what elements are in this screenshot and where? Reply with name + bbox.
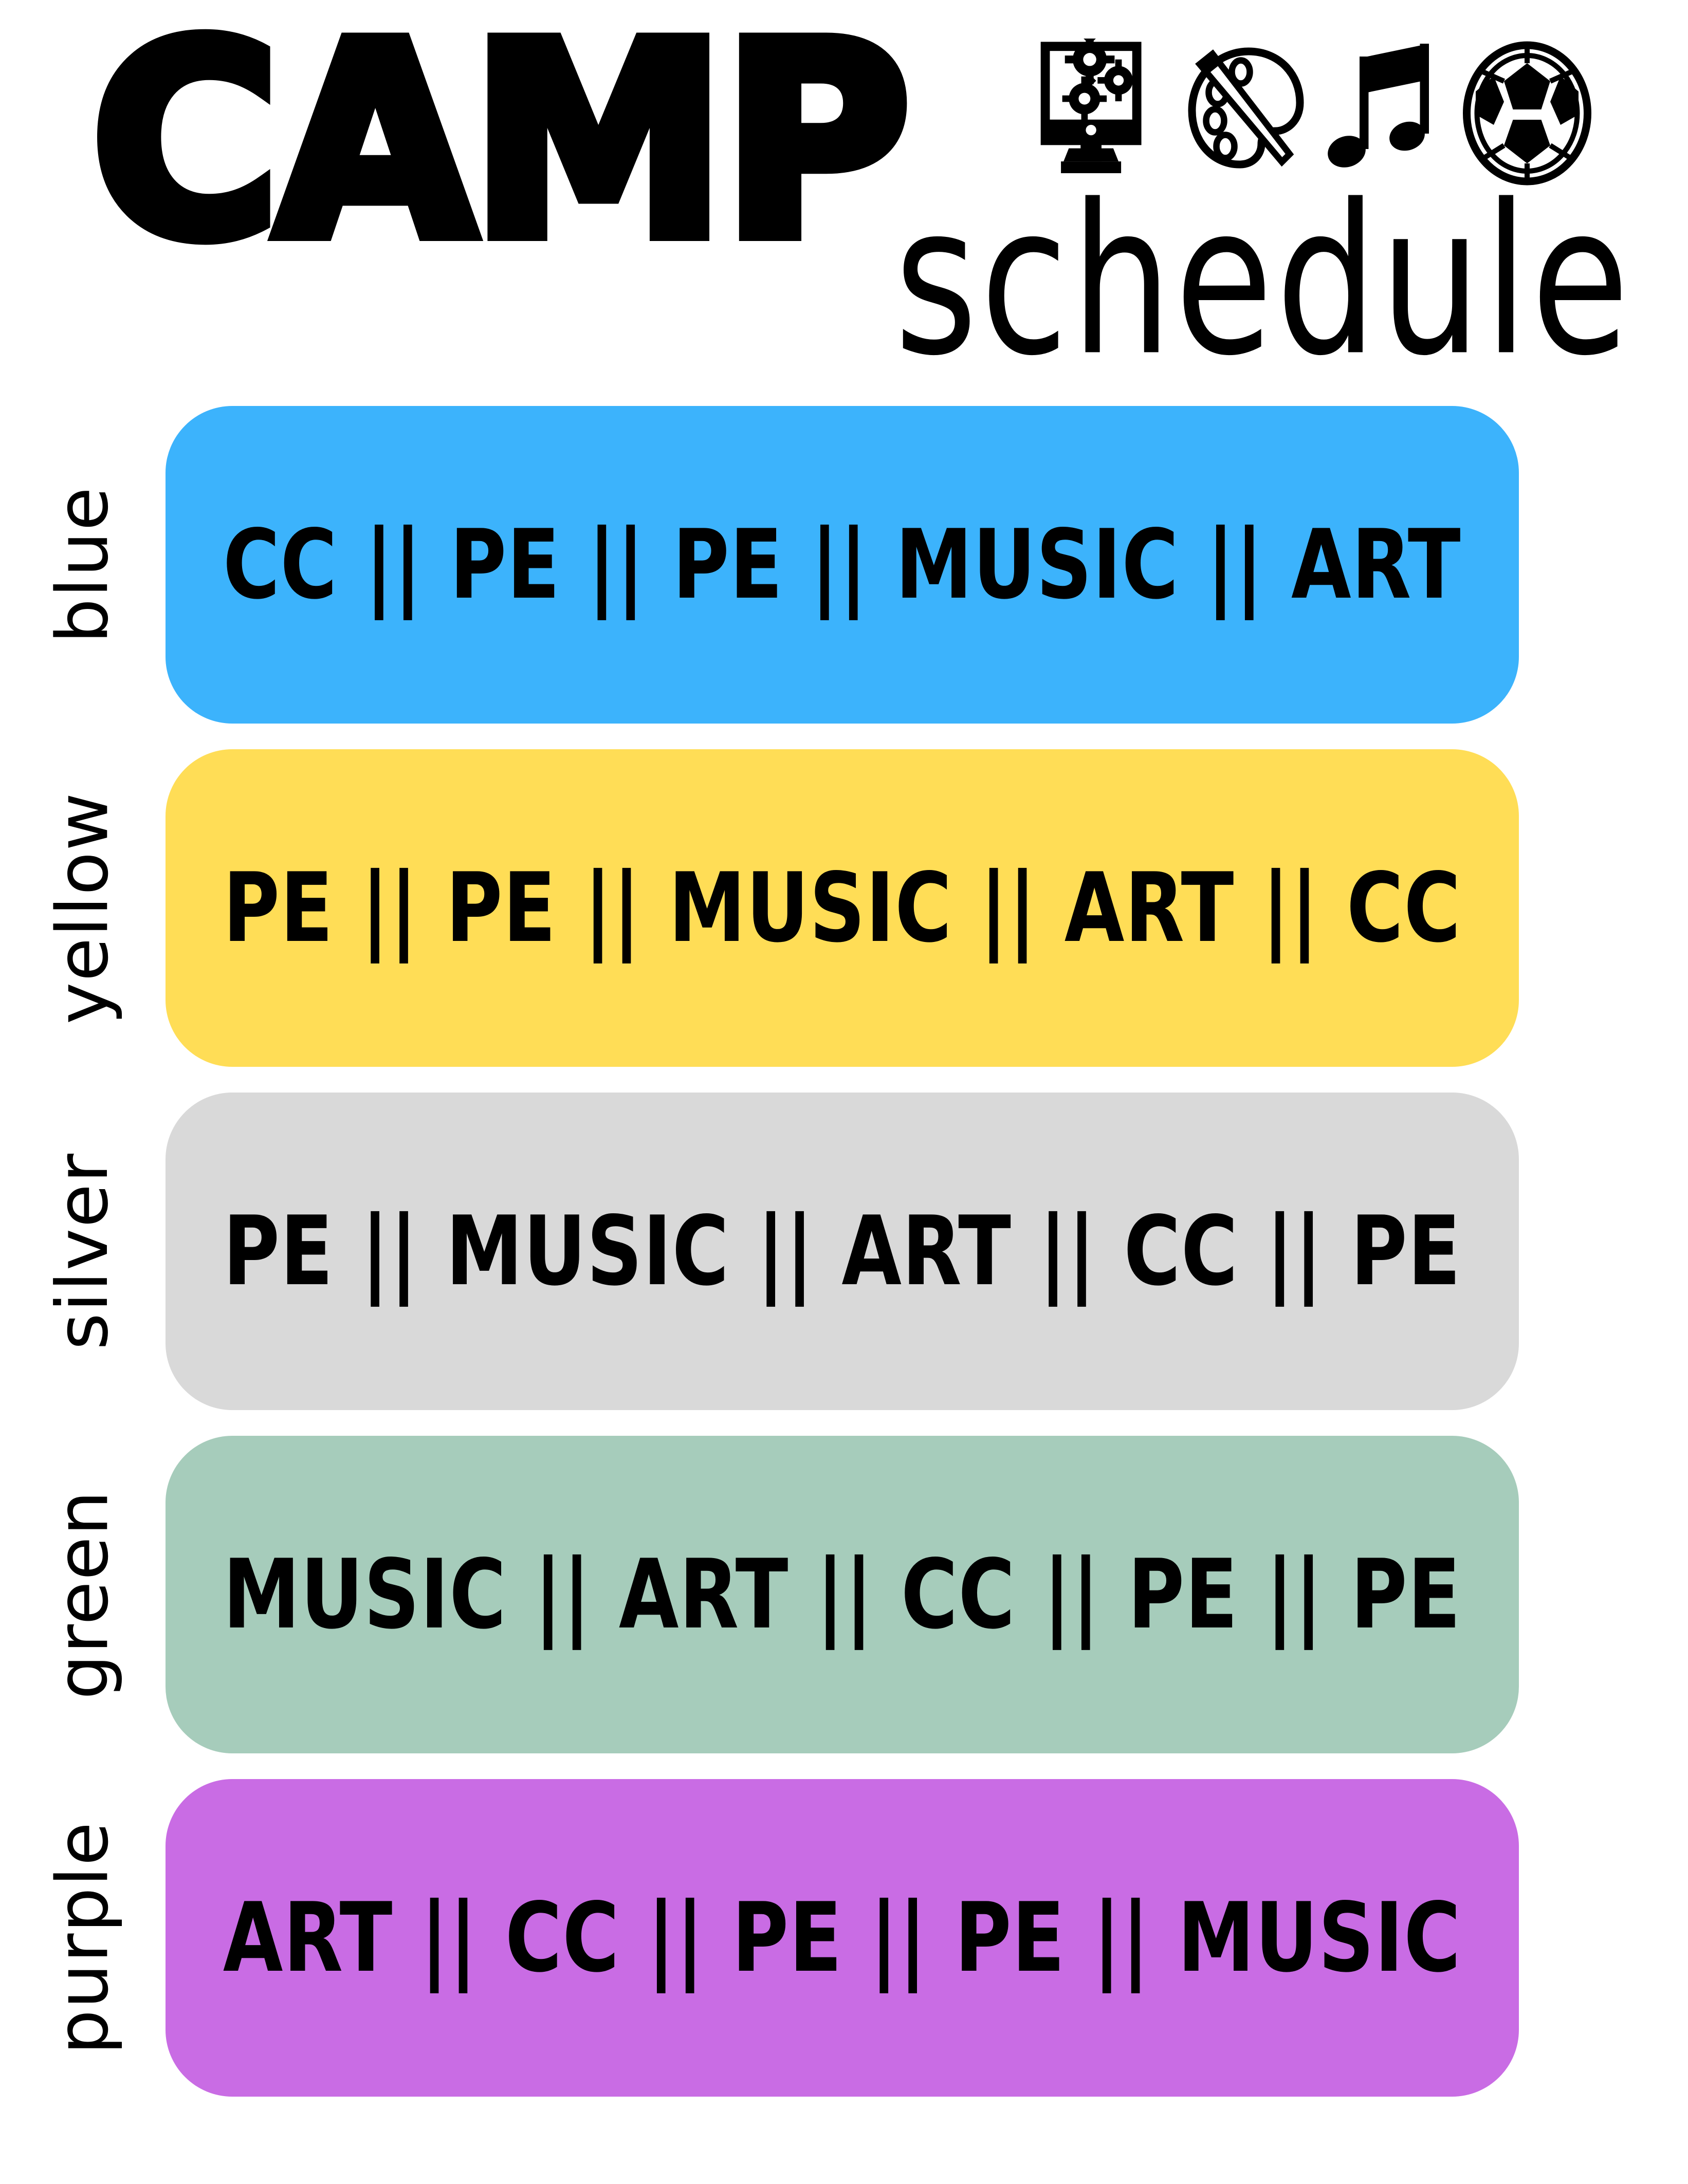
schedule-row-silver: silver PE || MUSIC || ART || CC || PE — [0, 1093, 1688, 1410]
row-band-purple[interactable]: ART || CC || PE || PE || MUSIC — [166, 1779, 1519, 2097]
schedule-row-green: green MUSIC || ART || CC || PE || PE — [0, 1436, 1688, 1753]
row-label-blue: blue — [0, 406, 166, 724]
page-subtitle: schedule — [894, 177, 1632, 384]
row-band-silver[interactable]: PE || MUSIC || ART || CC || PE — [166, 1093, 1519, 1410]
row-label-purple: purple — [0, 1779, 166, 2097]
row-activities-text: ART || CC || PE || PE || MUSIC — [223, 1890, 1461, 1986]
row-label-text: blue — [47, 486, 118, 643]
row-activities-text: PE || MUSIC || ART || CC || PE — [223, 1204, 1461, 1299]
schedule-row-purple: purple ART || CC || PE || PE || MUSIC — [0, 1779, 1688, 2097]
page-title: CAMP — [91, 9, 907, 275]
row-label-text: silver — [47, 1153, 118, 1350]
row-band-yellow[interactable]: PE || PE || MUSIC || ART || CC — [166, 749, 1519, 1067]
row-band-green[interactable]: MUSIC || ART || CC || PE || PE — [166, 1436, 1519, 1753]
schedule-rows: blue CC || PE || PE || MUSIC || ART yell… — [0, 406, 1688, 2122]
row-label-silver: silver — [0, 1093, 166, 1410]
row-label-text: yellow — [47, 792, 118, 1025]
row-activities-text: PE || PE || MUSIC || ART || CC — [223, 860, 1461, 956]
row-label-text: purple — [47, 1821, 118, 2055]
schedule-row-yellow: yellow PE || PE || MUSIC || ART || CC — [0, 749, 1688, 1067]
row-activities-text: MUSIC || ART || CC || PE || PE — [223, 1547, 1461, 1642]
row-band-blue[interactable]: CC || PE || PE || MUSIC || ART — [166, 406, 1519, 724]
poster-header: CAMP — [0, 0, 1688, 391]
row-label-yellow: yellow — [0, 749, 166, 1067]
row-label-text: green — [47, 1490, 118, 1700]
row-activities-text: CC || PE || PE || MUSIC || ART — [223, 517, 1461, 613]
row-label-green: green — [0, 1436, 166, 1753]
schedule-row-blue: blue CC || PE || PE || MUSIC || ART — [0, 406, 1688, 724]
